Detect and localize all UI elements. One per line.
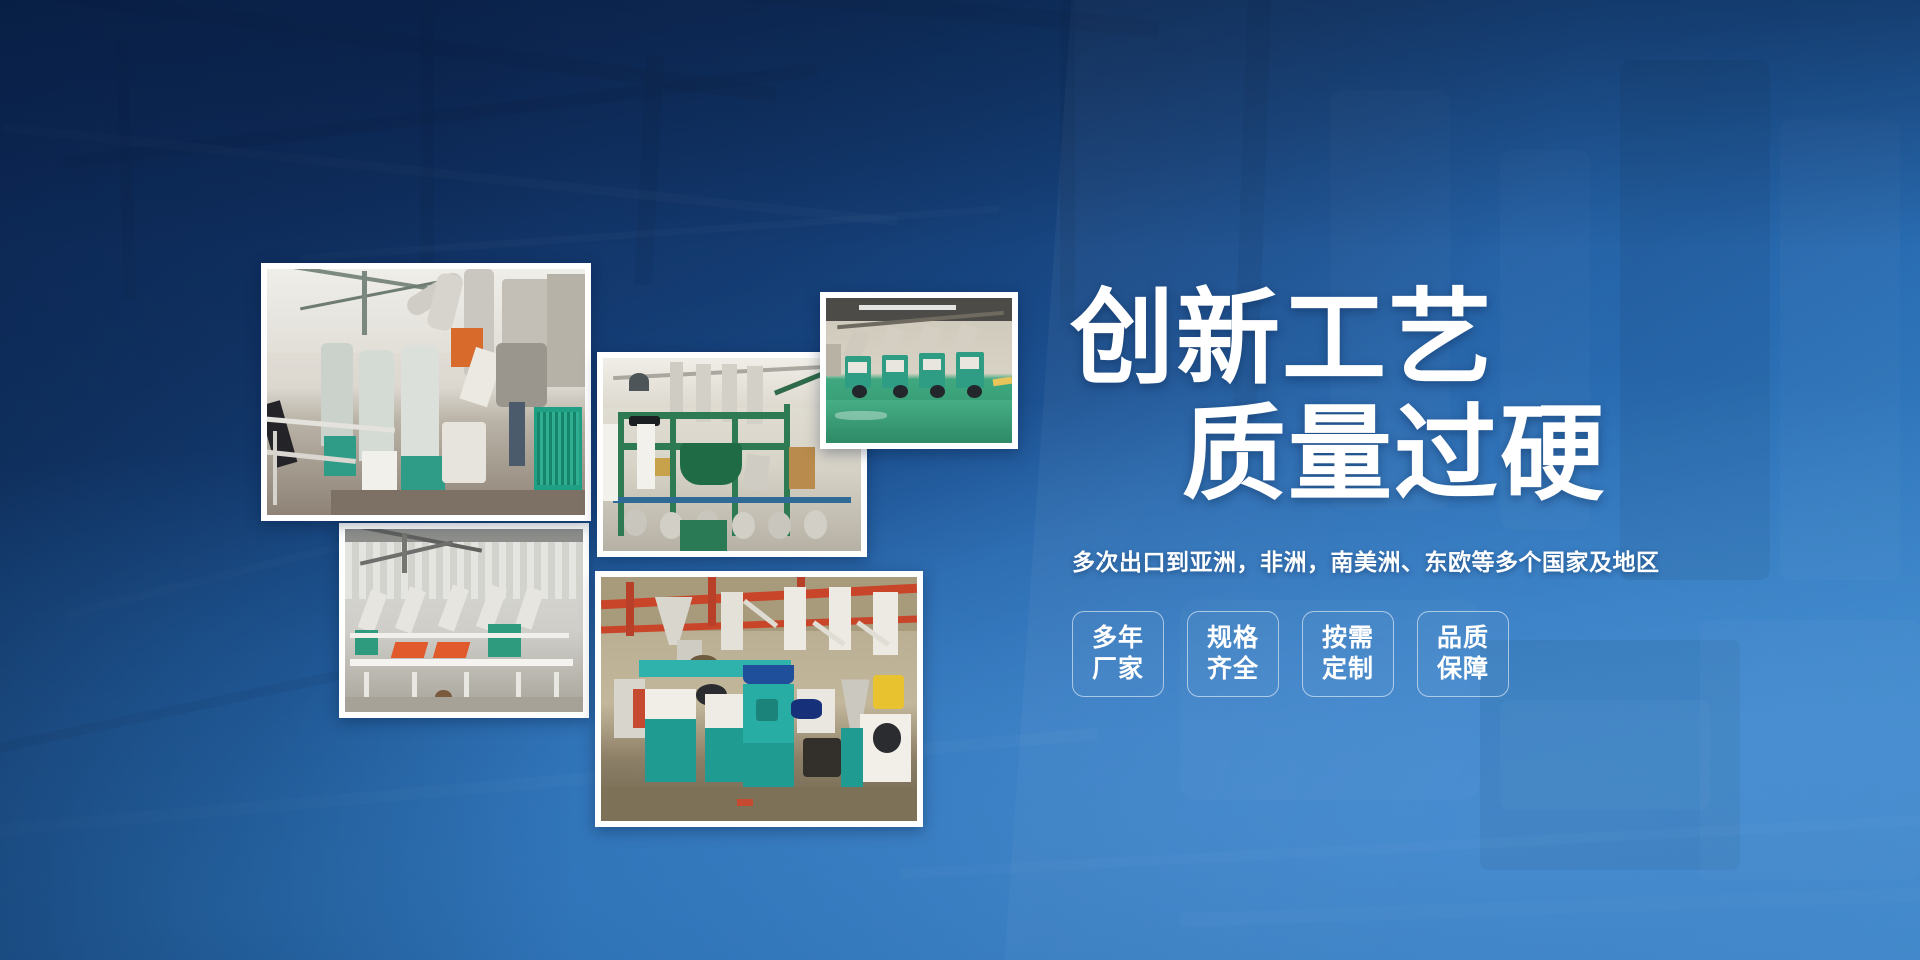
feature-badge-row: 多年 厂家 规格 齐全 按需 定制 品质 保障 (1072, 611, 1680, 697)
badge-line-1: 多年 (1092, 623, 1144, 654)
feature-badge-custom-made[interactable]: 按需 定制 (1302, 611, 1394, 697)
feature-badge-years-manufacturer[interactable]: 多年 厂家 (1072, 611, 1164, 697)
badge-line-1: 规格 (1207, 623, 1259, 654)
badge-line-2: 保障 (1437, 654, 1489, 685)
badge-line-2: 厂家 (1092, 654, 1144, 685)
feature-badge-full-specifications[interactable]: 规格 齐全 (1187, 611, 1279, 697)
promo-banner: 创新工艺 质量过硬 多次出口到亚洲，非洲，南美洲、东欧等多个国家及地区 多年 厂… (0, 0, 1920, 960)
badge-line-2: 定制 (1322, 654, 1374, 685)
subtitle: 多次出口到亚洲，非洲，南美洲、东欧等多个国家及地区 (1072, 543, 1680, 577)
photo-small-mill-units-green (820, 292, 1018, 449)
badge-line-1: 品质 (1437, 623, 1489, 654)
headline-line-2: 质量过硬 (1182, 396, 1680, 512)
headline-line-1: 创新工艺 (1070, 280, 1680, 396)
photo-milling-line-grey (261, 263, 591, 521)
badge-line-2: 齐全 (1207, 654, 1259, 685)
photo-teal-flour-mill-plant (595, 571, 923, 827)
badge-line-1: 按需 (1322, 623, 1374, 654)
copy-block: 创新工艺 质量过硬 多次出口到亚洲，非洲，南美洲、东欧等多个国家及地区 多年 厂… (1060, 280, 1680, 697)
photo-grain-cleaning-platform (339, 523, 589, 718)
feature-badge-quality-guarantee[interactable]: 品质 保障 (1417, 611, 1509, 697)
